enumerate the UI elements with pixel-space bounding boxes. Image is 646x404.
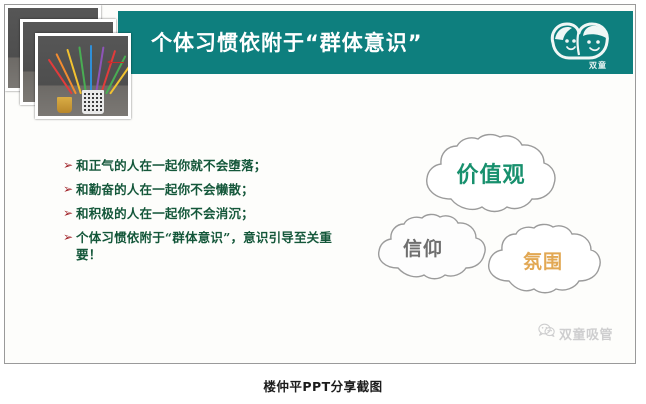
- cloud-shape-belief: 信仰: [368, 213, 490, 283]
- bullet-item: ➢ 和积极的人在一起你不会消沉；: [63, 205, 353, 222]
- watermark: 双童吸管: [538, 323, 613, 343]
- bullet-arrow-icon: ➢: [63, 157, 76, 174]
- cloud-shape-values: 价值观: [413, 133, 565, 217]
- bullet-item-label: 和积极的人在一起你不会消沉；: [76, 205, 353, 222]
- photo-thumbnail-front: [35, 33, 131, 119]
- bullet-arrow-icon: ➢: [63, 229, 76, 246]
- cloud-shape-atmosphere: 氛围: [477, 223, 605, 297]
- cloud-label-atmosphere: 氛围: [479, 223, 607, 297]
- brand-name-label: 双童: [589, 60, 607, 71]
- cloud-label-values: 价值观: [415, 131, 567, 215]
- bullet-item-label: 个体习惯依附于“群体意识”，意识引导至关重要！: [76, 229, 353, 263]
- slide-header-band: 个体习惯依附于“群体意识”: [118, 11, 633, 74]
- bullet-item: ➢ 个体习惯依附于“群体意识”，意识引导至关重要！: [63, 229, 353, 263]
- watermark-label: 双童吸管: [559, 324, 613, 343]
- presentation-slide: 个体习惯依附于“群体意识”: [4, 4, 636, 364]
- bullet-arrow-icon: ➢: [63, 181, 76, 198]
- slide-title: 个体习惯依附于“群体意识”: [151, 27, 423, 57]
- photo-image: [38, 36, 128, 116]
- bullet-item-label: 和正气的人在一起你就不会堕落；: [76, 157, 353, 174]
- bullet-list: ➢ 和正气的人在一起你就不会堕落； ➢ 和勤奋的人在一起你不会懒散； ➢ 和积极…: [63, 157, 353, 270]
- bullet-item-label: 和勤奋的人在一起你不会懒散；: [76, 181, 353, 198]
- image-caption: 楼仲平PPT分享截图: [0, 376, 646, 395]
- bullet-item: ➢ 和正气的人在一起你就不会堕落；: [63, 157, 353, 174]
- bullet-arrow-icon: ➢: [63, 205, 76, 222]
- cloud-label-belief: 信仰: [362, 212, 484, 282]
- wechat-icon: [538, 323, 555, 343]
- bullet-item: ➢ 和勤奋的人在一起你不会懒散；: [63, 181, 353, 198]
